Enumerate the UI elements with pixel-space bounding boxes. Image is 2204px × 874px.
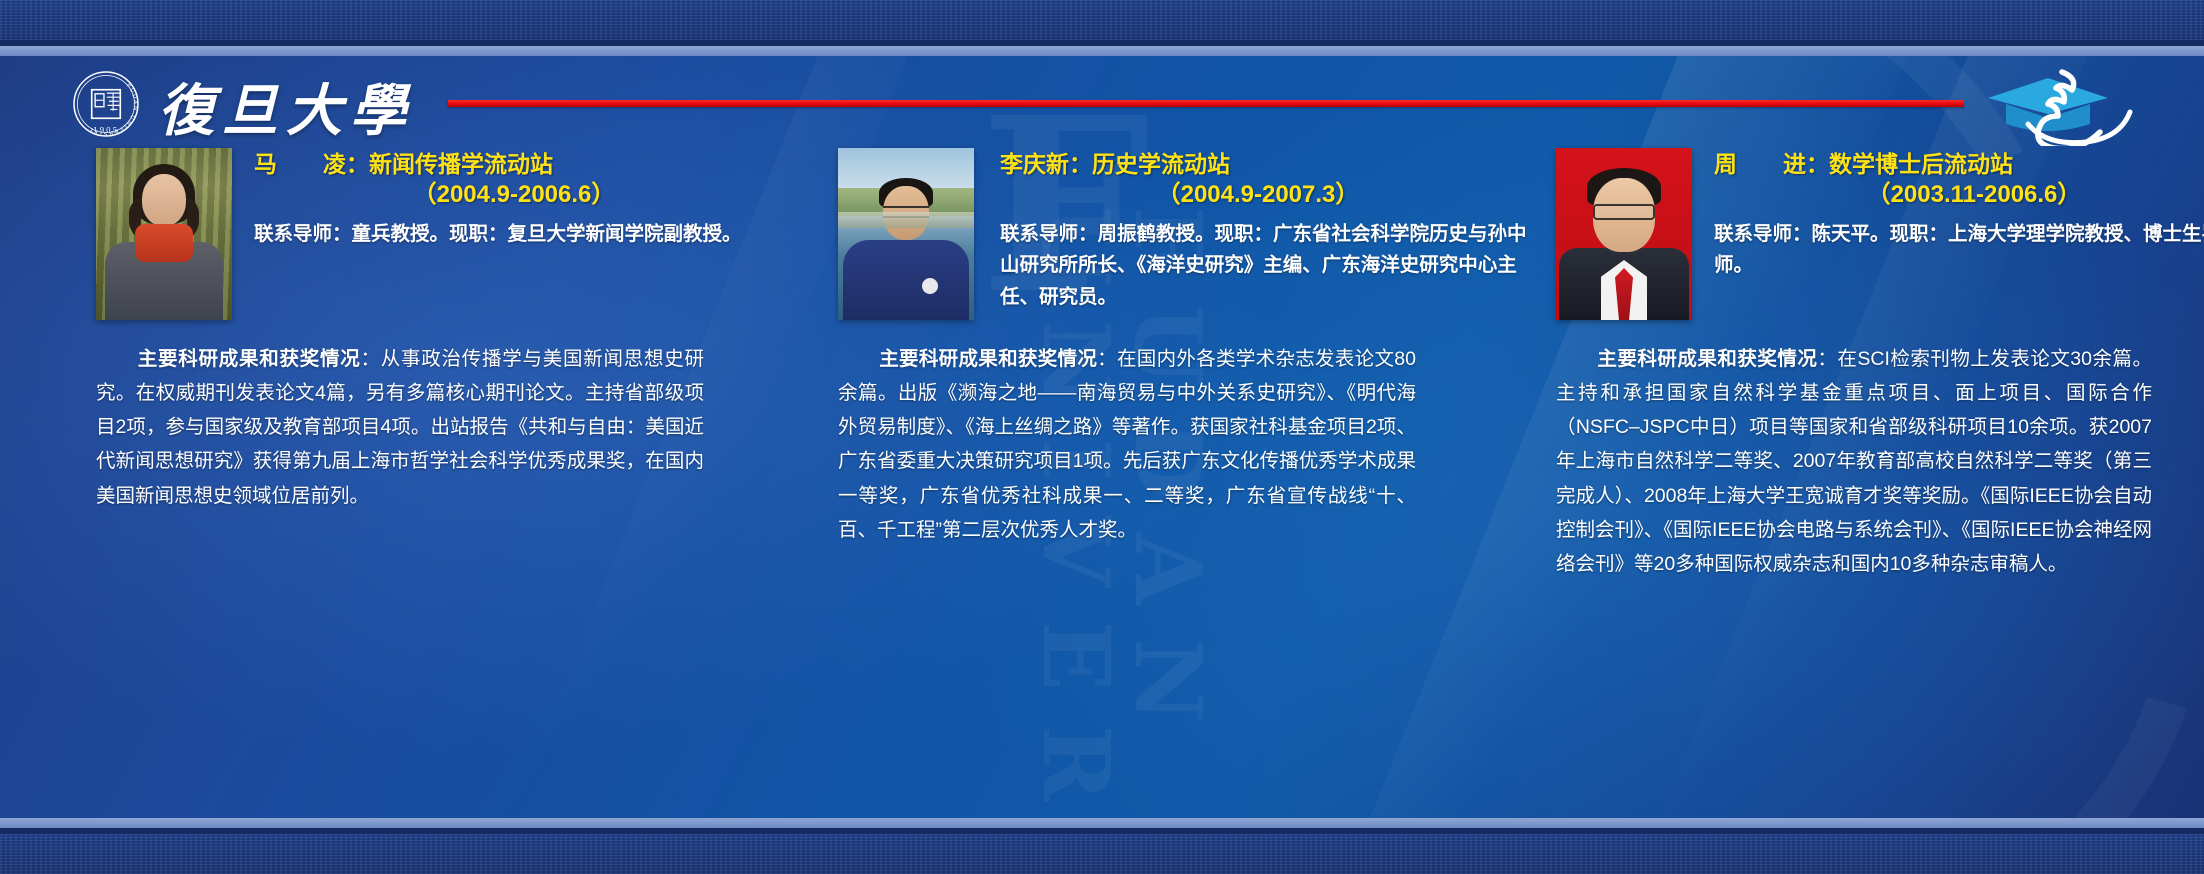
bottom-border-band bbox=[0, 828, 2204, 874]
profile-advisor-3: 联系导师：陈天平。现职：上海大学理学院教授、博士生导师。 bbox=[1714, 219, 2204, 282]
graduation-cap-icon bbox=[1976, 62, 2160, 146]
poster-header: FUDAN UNIVERSITY 1905 復旦大學 bbox=[0, 56, 2204, 148]
portrait-li-qingxin bbox=[838, 148, 974, 320]
achievements-text-1: ：从事政治传播学与美国新闻思想史研究。在权威期刊发表论文4篇，另有多篇核心期刊论… bbox=[96, 348, 704, 507]
profile-achievements-2: 主要科研成果和获奖情况：在国内外各类学术杂志发表论文80余篇。出版《濒海之地——… bbox=[838, 342, 1416, 547]
top-border-rule bbox=[0, 46, 2204, 56]
profile-column-3: 周 进：数学博士后流动站 （2003.11-2006.6） 联系导师：陈天平。现… bbox=[1556, 148, 2204, 581]
profile-advisor-2: 联系导师：周振鹤教授。现职：广东省社会科学院历史与孙中山研究所所长、《海洋史研究… bbox=[1000, 219, 1538, 314]
bottom-border-dark bbox=[0, 828, 2204, 834]
fudan-crest-icon: FUDAN UNIVERSITY 1905 bbox=[72, 70, 140, 138]
achievements-label-3: 主要科研成果和获奖情况 bbox=[1597, 348, 1817, 370]
achievements-label-2: 主要科研成果和获奖情况 bbox=[879, 348, 1097, 370]
profile-period-1: （2004.9-2006.6） bbox=[254, 179, 796, 210]
profile-name-3: 周 进：数学博士后流动站 bbox=[1714, 150, 2204, 179]
achievements-text-2: ：在国内外各类学术杂志发表论文80余篇。出版《濒海之地——南海贸易与中外关系史研… bbox=[838, 348, 1416, 541]
profile-period-2: （2004.9-2007.3） bbox=[1000, 179, 1538, 210]
profile-achievements-3: 主要科研成果和获奖情况：在SCI检索刊物上发表论文30余篇。主持和承担国家自然科… bbox=[1556, 342, 2152, 581]
poster-root: F FUDAN UNIVERSITY FUDAN UNIVERSITY bbox=[0, 0, 2204, 874]
bottom-border-rule bbox=[0, 818, 2204, 828]
profile-name-1: 马 凌：新闻传播学流动站 bbox=[254, 150, 796, 179]
profile-period-3: （2003.11-2006.6） bbox=[1714, 179, 2204, 210]
profile-column-2: 李庆新：历史学流动站 （2004.9-2007.3） 联系导师：周振鹤教授。现职… bbox=[838, 148, 1538, 547]
poster-canvas: F FUDAN UNIVERSITY FUDAN UNIVERSITY bbox=[0, 56, 2204, 818]
profile-name-2: 李庆新：历史学流动站 bbox=[1000, 150, 1538, 179]
profile-advisor-1: 联系导师：童兵教授。现职：复旦大学新闻学院副教授。 bbox=[254, 219, 796, 251]
profile-achievements-1: 主要科研成果和获奖情况：从事政治传播学与美国新闻思想史研究。在权威期刊发表论文4… bbox=[96, 342, 704, 513]
header-red-rule bbox=[448, 100, 1964, 107]
portrait-zhou-jin bbox=[1556, 148, 1692, 320]
portrait-ma-ling bbox=[96, 148, 232, 320]
achievements-text-3: ：在SCI检索刊物上发表论文30余篇。主持和承担国家自然科学基金重点项目、面上项… bbox=[1556, 348, 2152, 575]
university-wordmark: 復旦大學 bbox=[158, 66, 414, 147]
profile-column-1: 马 凌：新闻传播学流动站 （2004.9-2006.6） 联系导师：童兵教授。现… bbox=[96, 148, 796, 513]
svg-text:1905: 1905 bbox=[93, 126, 119, 135]
profiles-container: 马 凌：新闻传播学流动站 （2004.9-2006.6） 联系导师：童兵教授。现… bbox=[0, 148, 2204, 818]
achievements-label-1: 主要科研成果和获奖情况 bbox=[137, 348, 361, 370]
